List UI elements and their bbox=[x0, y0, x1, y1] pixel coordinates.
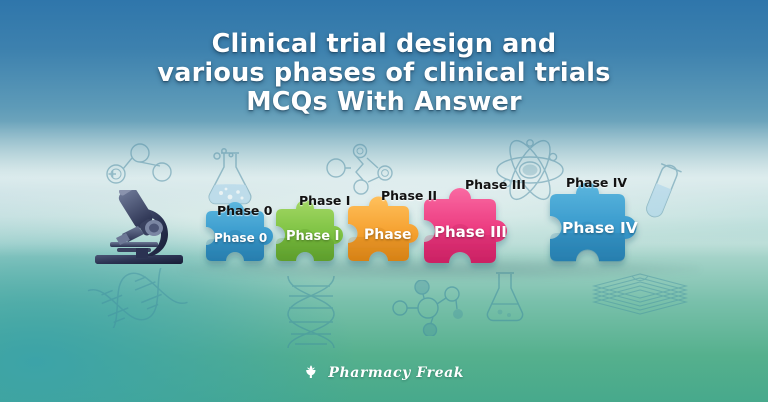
flask-icon bbox=[203, 148, 257, 210]
poster-canvas: Clinical trial design and various phases… bbox=[0, 0, 768, 402]
phase-label-2: Phase II bbox=[381, 188, 437, 203]
molecule-icon bbox=[386, 280, 470, 336]
page-title: Clinical trial design and various phases… bbox=[0, 30, 768, 117]
mortar-pestle-icon bbox=[304, 364, 318, 383]
diagram-ground-shadow bbox=[180, 258, 700, 280]
phase-label-1: Phase I bbox=[299, 193, 350, 208]
molecule-icon bbox=[102, 140, 176, 192]
phase-label-3: Phase III bbox=[465, 177, 526, 192]
brand-logo[interactable]: Pharmacy Freak bbox=[0, 364, 768, 383]
test-tube-icon bbox=[640, 160, 684, 222]
microscope-icon bbox=[92, 190, 188, 278]
title-line-3: MCQs With Answer bbox=[60, 88, 708, 117]
title-line-2: various phases of clinical trials bbox=[60, 59, 708, 88]
phase-label-0: Phase 0 bbox=[217, 203, 272, 218]
brand-name: Pharmacy Freak bbox=[328, 365, 464, 381]
title-line-1: Clinical trial design and bbox=[60, 30, 708, 59]
dna-helix-icon bbox=[278, 272, 344, 352]
phase-label-4: Phase IV bbox=[566, 175, 627, 190]
